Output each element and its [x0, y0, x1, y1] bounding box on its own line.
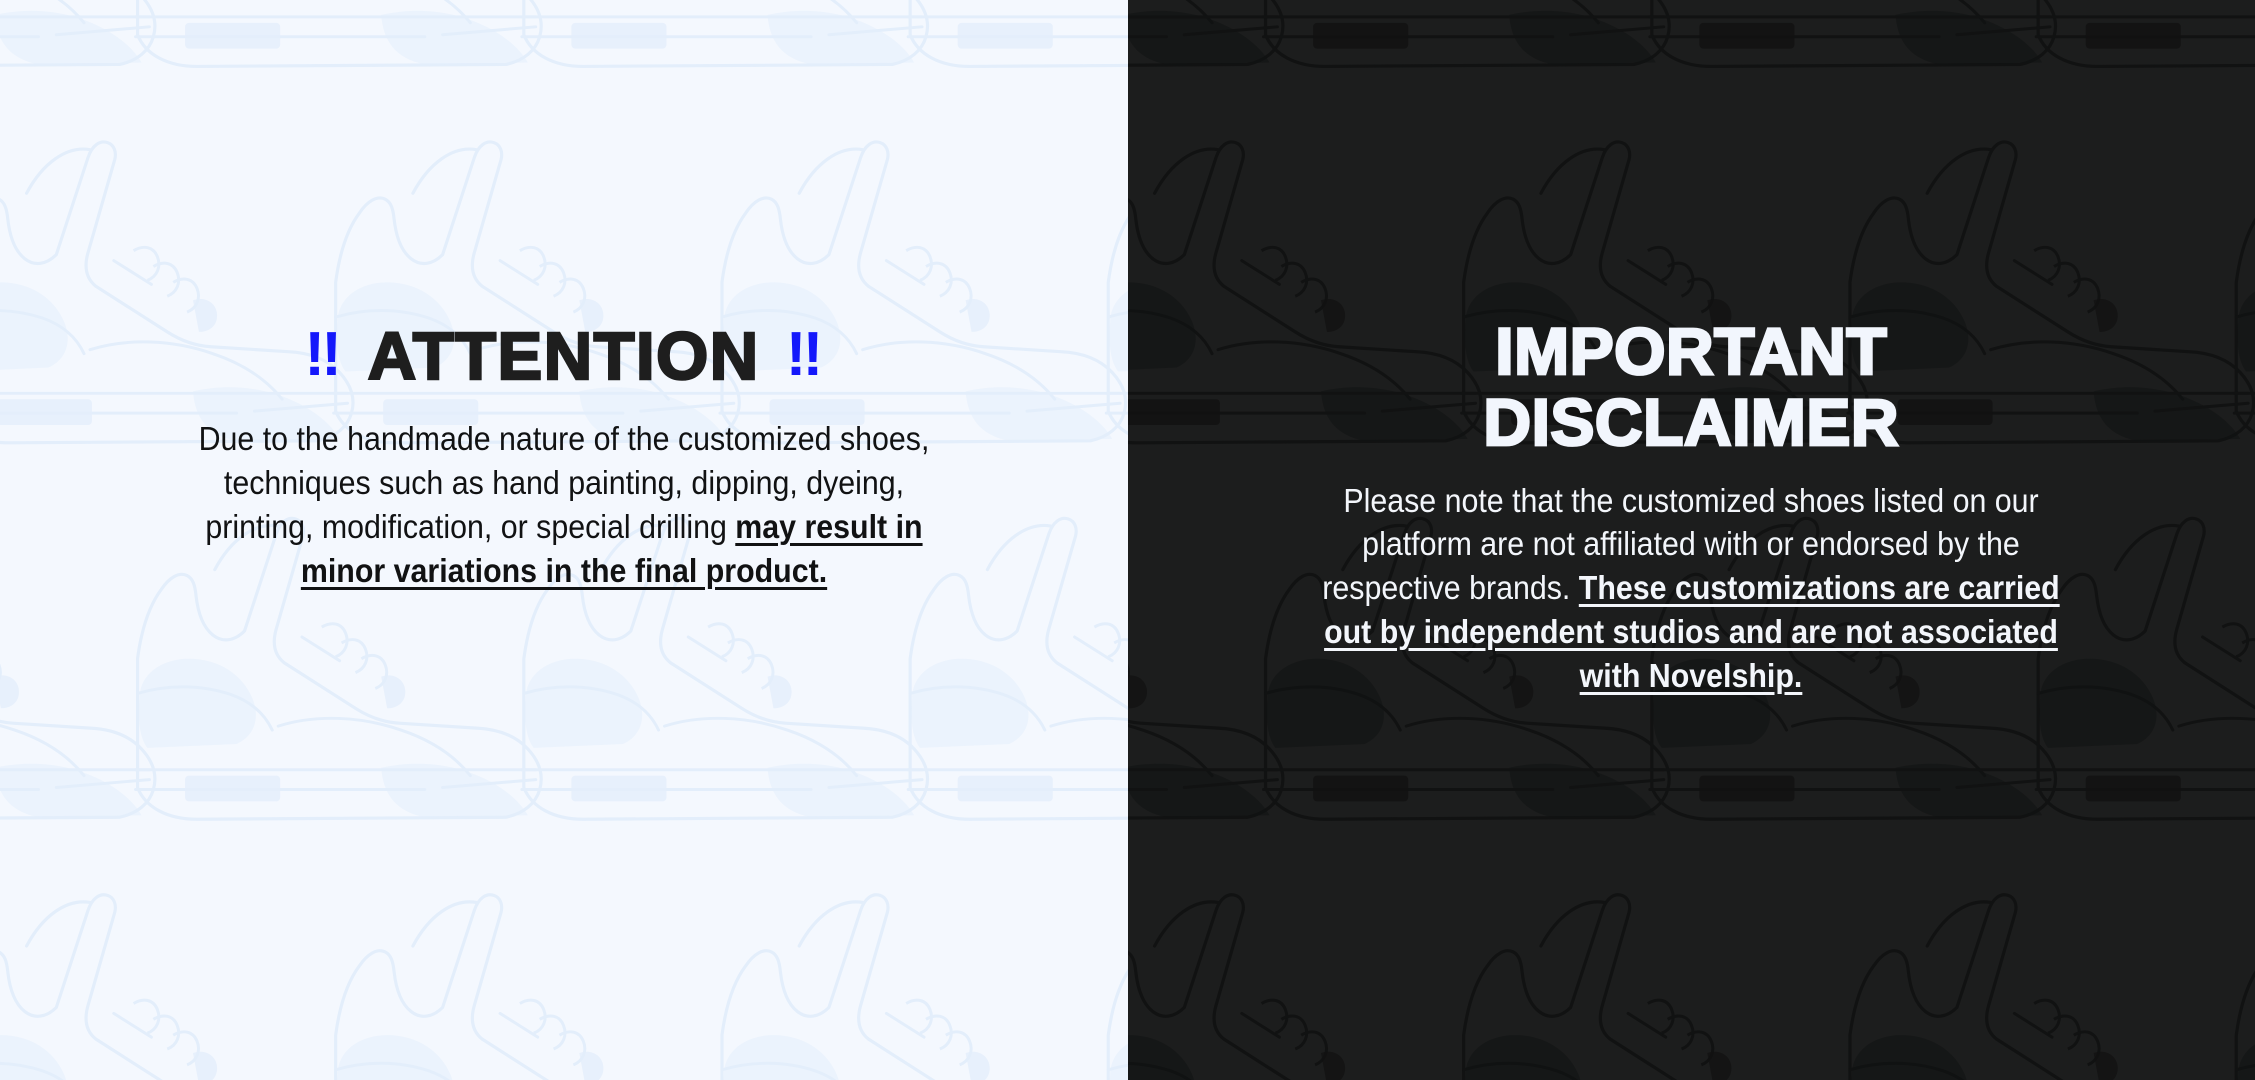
disclaimer-heading: IMPORTANT DISCLAIMER: [1483, 316, 1899, 459]
attention-heading: ‼ ATTENTION ‼: [304, 323, 823, 390]
attention-heading-text: ATTENTION: [368, 323, 760, 390]
disclaimer-heading-line-1: IMPORTANT: [1495, 314, 1887, 388]
disclaimer-body: Please note that the customized shoes li…: [1314, 479, 2068, 698]
attention-panel: ‼ ATTENTION ‼ Due to the handmade nature…: [0, 0, 1128, 1080]
disclaimer-content: IMPORTANT DISCLAIMER Please note that th…: [1128, 0, 2255, 698]
disclaimer-panel: IMPORTANT DISCLAIMER Please note that th…: [1128, 0, 2255, 1080]
double-exclamation-icon-right: ‼: [786, 324, 823, 386]
double-exclamation-icon-left: ‼: [304, 324, 341, 386]
attention-body: Due to the handmade nature of the custom…: [196, 417, 932, 593]
disclaimer-heading-line-2: DISCLAIMER: [1483, 385, 1899, 459]
disclaimer-banner: ‼ ATTENTION ‼ Due to the handmade nature…: [0, 0, 2255, 1080]
attention-content: ‼ ATTENTION ‼ Due to the handmade nature…: [0, 0, 1128, 593]
